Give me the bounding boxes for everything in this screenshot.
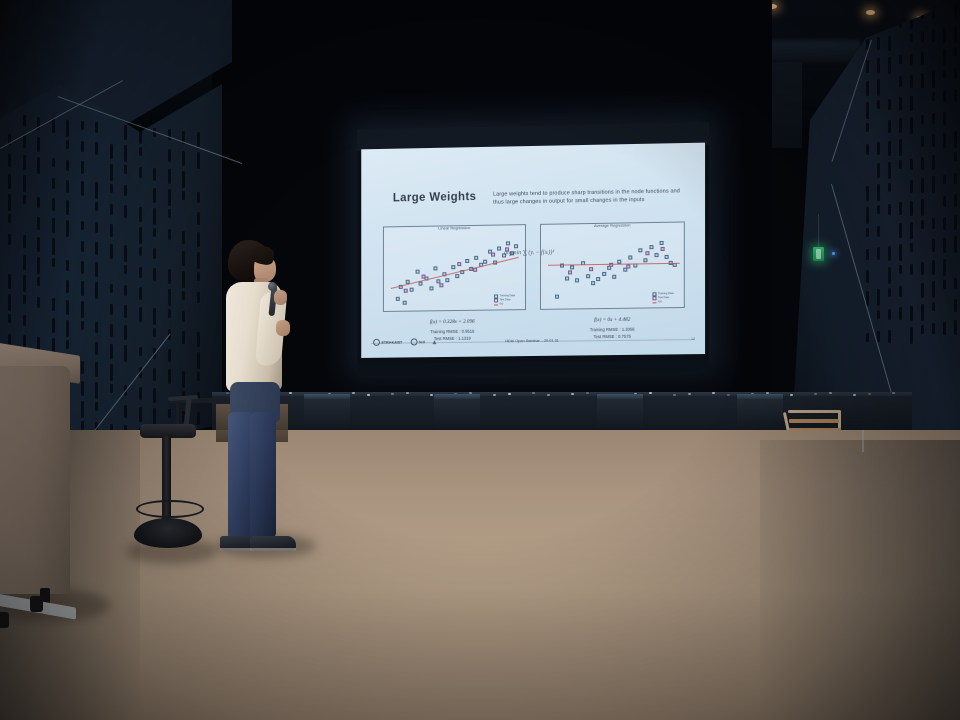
wall-perforation [954, 173, 957, 184]
wall-perforation [197, 152, 200, 169]
wall-perforation [8, 194, 11, 211]
scatter-point-training [665, 255, 669, 259]
wall-perforation [124, 245, 127, 262]
stage-edge-light [430, 394, 433, 396]
stage-edge-light [391, 393, 394, 395]
wall-perforation [66, 260, 69, 271]
wall-perforation [95, 122, 98, 133]
wall-perforation [932, 260, 935, 275]
wall-perforation [8, 274, 11, 289]
wall-perforation [910, 222, 913, 239]
wall-perforation [66, 280, 69, 293]
wall-perforation [197, 292, 200, 303]
wall-perforation [954, 131, 957, 148]
wall-perforation [81, 321, 84, 330]
wall-perforation [899, 307, 902, 320]
slide-title: Large Weights [393, 191, 477, 204]
projection-screen[interactable]: Large Weights Large weights tend to prod… [357, 122, 709, 368]
wall-perforation [52, 238, 55, 255]
wall-perforation [124, 305, 127, 318]
scatter-point-test [661, 247, 665, 251]
wall-perforation [197, 232, 200, 247]
wall-perforation [81, 361, 84, 374]
wall-perforation [182, 191, 185, 200]
stage-edge-light [547, 394, 550, 396]
wall-perforation [139, 347, 142, 356]
step-tread [789, 419, 839, 423]
wall-perforation [139, 167, 142, 178]
stage-edge-light [508, 393, 511, 395]
wall-perforation [921, 304, 924, 321]
wall-perforation [921, 31, 924, 42]
wall-perforation [877, 205, 880, 214]
wall-perforation [153, 228, 156, 237]
presenter-shoe-right [250, 536, 296, 551]
scatter-point-training [429, 286, 433, 290]
wall-perforation [168, 149, 171, 162]
wall-perforation [110, 284, 113, 293]
wall-perforation [66, 180, 69, 193]
wall-perforation [899, 244, 902, 261]
legend-swatch-test [494, 299, 498, 303]
chart-average-regression: Average Regression Training Data Test Da… [540, 221, 685, 309]
stage-edge-light [571, 393, 574, 395]
wall-perforation [124, 125, 127, 140]
wall-perforation [932, 239, 935, 252]
scatter-point-training [497, 246, 501, 250]
wall-perforation [954, 89, 957, 102]
scatter-point-training [639, 248, 643, 252]
stage-edge-light [829, 392, 832, 394]
wall-perforation [943, 70, 946, 79]
wall-perforation [124, 205, 127, 218]
fit-line-left [391, 257, 519, 289]
wall-perforation [866, 102, 869, 119]
wall-perforation [954, 236, 957, 253]
wall-perforation [197, 332, 200, 347]
floor-shading-right [760, 440, 960, 720]
presenter-leg-right [250, 412, 276, 538]
stage-edge-light [868, 393, 871, 395]
stage-edge-light [688, 393, 691, 395]
stage-edge-light [727, 394, 730, 396]
wall-perforation [943, 112, 946, 125]
wall-perforation [877, 37, 880, 50]
step-rail-top [788, 410, 840, 413]
wall-perforation [81, 261, 84, 274]
wall-perforation [139, 387, 142, 400]
wall-perforation [8, 234, 11, 245]
wall-perforation [95, 182, 98, 199]
wall-perforation [124, 165, 127, 174]
wall-perforation [877, 100, 880, 109]
wall-perforation [943, 175, 946, 184]
wall-perforation [943, 322, 946, 335]
wall-perforation [910, 327, 913, 344]
wall-perforation [921, 52, 924, 65]
wall-perforation [139, 407, 142, 422]
wall-perforation [52, 158, 55, 167]
wall-perforation [888, 330, 891, 343]
wall-perforation [899, 139, 902, 156]
wall-perforation [81, 141, 84, 152]
wall-perforation [197, 412, 200, 425]
wall-perforation [37, 277, 40, 286]
wall-perforation [168, 129, 171, 140]
presentation-slide: Large Weights Large weights tend to prod… [361, 143, 705, 358]
wall-perforation [153, 328, 156, 337]
wall-perforation [168, 309, 171, 318]
stage-edge-light [814, 393, 817, 395]
wall-perforation [910, 33, 913, 42]
wall-perforation [153, 208, 156, 225]
wall-perforation [37, 237, 40, 252]
presenter [206, 240, 316, 560]
wall-perforation [168, 409, 171, 418]
wall-perforation [921, 157, 924, 170]
scatter-point-training [455, 274, 459, 278]
wall-perforation [37, 217, 40, 230]
wall-perforation [66, 320, 69, 337]
scatter-point-training [628, 255, 632, 259]
wall-perforation [899, 223, 902, 238]
wall-perforation [110, 384, 113, 393]
wall-perforation [110, 164, 113, 181]
microphone-head-icon [268, 282, 277, 291]
wall-perforation [81, 241, 84, 252]
chart-linear-regression: Linear Regression Training Data Test Dat… [383, 224, 526, 312]
wall-perforation [153, 388, 156, 403]
wall-perforation [8, 334, 11, 345]
wall-perforation [37, 137, 40, 152]
wall-perforation [95, 382, 98, 399]
wall-perforation [81, 161, 84, 174]
wall-perforation [153, 408, 156, 425]
wall-perforation [23, 235, 26, 248]
wall-perforation [932, 155, 935, 170]
legend-entry-fx-r: f(x) [652, 300, 680, 304]
wall-perforation [943, 133, 946, 148]
wall-perforation [23, 275, 26, 292]
wall-perforation [954, 152, 957, 161]
wall-perforation [888, 204, 891, 215]
wall-perforation [139, 147, 142, 156]
wall-perforation [23, 135, 26, 148]
stage-edge-light [586, 392, 589, 394]
wall-perforation [182, 331, 185, 344]
wall-perforation [899, 97, 902, 110]
overlay-equation: argmin ∑ (yᵢ − f(xᵢ))² [504, 250, 554, 257]
scatter-point-training [649, 245, 653, 249]
wall-perforation [23, 155, 26, 170]
scatter-point-training [660, 241, 664, 245]
wall-perforation [888, 288, 891, 297]
wall-perforation [932, 134, 935, 147]
wall-perforation [899, 76, 902, 87]
scatter-point-test [422, 274, 426, 278]
wall-perforation [877, 331, 880, 342]
legend-entry-fx: f(x) [494, 302, 522, 306]
wall-perforation [66, 140, 69, 149]
wall-perforation [197, 132, 200, 147]
wall-perforation [153, 168, 156, 181]
wall-perforation [110, 344, 113, 359]
wall-perforation [168, 349, 171, 362]
wall-perforation [23, 295, 26, 304]
wall-perforation [888, 246, 891, 261]
legend-label-fx: f(x) [500, 302, 504, 306]
wall-perforation [910, 264, 913, 275]
wall-perforation [954, 194, 957, 207]
lecture-hall-photo: Large Weights Large weights tend to prod… [0, 0, 960, 720]
scatter-point-training [602, 272, 606, 276]
wall-perforation [139, 287, 142, 300]
wall-perforation [168, 209, 171, 218]
wall-perforation [81, 221, 84, 230]
legend-swatch-test-r [652, 296, 656, 300]
wall-perforation [66, 160, 69, 171]
wall-perforation [866, 207, 869, 224]
bar-stool-base [134, 518, 202, 548]
wall-perforation [139, 247, 142, 256]
wall-perforation [95, 342, 98, 355]
scatter-point-training [607, 266, 611, 270]
wall-perforation [52, 298, 55, 311]
wall-perforation [899, 118, 902, 133]
podium-caster [0, 612, 9, 628]
podium-caster [30, 596, 43, 612]
wall-perforation [23, 315, 26, 326]
scatter-point-test [627, 264, 631, 268]
wall-perforation [182, 371, 185, 388]
wall-perforation [197, 252, 200, 269]
wall-perforation [899, 160, 902, 169]
wall-perforation [932, 218, 935, 229]
wall-perforation [95, 262, 98, 277]
wall-perforation [921, 136, 924, 147]
wall-perforation [66, 300, 69, 315]
wall-perforation [932, 176, 935, 193]
wall-perforation [139, 267, 142, 278]
wall-perforation [877, 79, 880, 96]
scatter-point-training [654, 253, 658, 257]
wall-perforation [182, 271, 185, 288]
stage-edge-light [367, 394, 370, 396]
wall-perforation [954, 278, 957, 289]
presenter-hand-mic [274, 290, 287, 305]
wall-perforation [921, 262, 924, 275]
chart-legend-left: Training Data Test Data f(x) [494, 294, 522, 306]
wall-perforation [66, 120, 69, 137]
wall-perforation [932, 29, 935, 42]
wall-perforation [182, 151, 185, 166]
scatter-point-training [433, 267, 437, 271]
scatter-point-training [597, 277, 601, 281]
wall-perforation [888, 183, 891, 192]
floor-cable [862, 430, 864, 452]
wall-perforation [866, 60, 869, 73]
wall-perforation [8, 154, 11, 167]
wall-perforation [877, 310, 880, 319]
wall-perforation [124, 265, 127, 274]
wall-perforation [52, 198, 55, 211]
scatter-point-training [612, 275, 616, 279]
shoe-sole [250, 548, 296, 551]
wall-perforation [153, 188, 156, 203]
wall-perforation [866, 123, 869, 132]
wall-perforation [910, 117, 913, 134]
wall-perforation [110, 224, 113, 237]
stage-edge-light [649, 392, 652, 394]
legend-swatch-fx-r [652, 302, 656, 303]
chart-title-right: Average Regression [541, 221, 684, 228]
stage-edge-light [532, 392, 535, 394]
wall-perforation [168, 369, 171, 384]
wall-perforation [37, 197, 40, 208]
wall-perforation [182, 171, 185, 188]
scatter-point-training [591, 281, 595, 285]
wall-perforation [943, 28, 946, 43]
wall-perforation [866, 186, 869, 201]
scatter-point-training [483, 260, 487, 264]
wall-perforation [197, 272, 200, 281]
wall-perforation [168, 229, 171, 240]
wall-perforation [877, 163, 880, 178]
wall-perforation [888, 267, 891, 284]
wall-perforation [954, 47, 957, 56]
wall-perforation [110, 364, 113, 381]
wall-perforation [943, 238, 946, 253]
wall-perforation [95, 242, 98, 255]
wall-perforation [943, 217, 946, 230]
scatter-point-training [555, 294, 559, 298]
wall-perforation [197, 192, 200, 203]
wall-perforation [139, 207, 142, 222]
wall-perforation [921, 115, 924, 124]
wall-perforation [954, 215, 957, 230]
wall-perforation [888, 141, 891, 156]
wall-perforation [910, 180, 913, 193]
wall-perforation [23, 115, 26, 126]
chart-legend-right: Training Data Test Data f(x) [652, 292, 680, 304]
wall-perforation [8, 174, 11, 189]
wall-perforation [866, 144, 869, 155]
wall-perforation [139, 127, 142, 144]
stage-edge-light [352, 392, 355, 394]
wall-perforation [954, 320, 957, 335]
wall-perforation [66, 340, 69, 349]
wall-perforation [197, 352, 200, 369]
wall-perforation [81, 181, 84, 196]
wall-perforation [866, 270, 869, 283]
wall-perforation [182, 291, 185, 300]
wall-perforation [182, 231, 185, 244]
screen-surface: Large Weights Large weights tend to prod… [361, 143, 705, 358]
scatter-point-training [576, 278, 580, 282]
wall-perforation [23, 255, 26, 270]
slide-footer: ETRI+KAIST hcil HDAI Open Seminar – 20.0… [361, 328, 705, 346]
scatter-point-training [623, 268, 627, 272]
formula-left: f(x) = 0.328x + 2.096 [383, 318, 522, 326]
wall-perforation [877, 289, 880, 306]
wall-perforation [182, 251, 185, 266]
scatter-point-training [565, 277, 569, 281]
bar-stool-footrest-ring [136, 500, 204, 518]
wall-perforation [168, 289, 171, 306]
wall-perforation [8, 294, 11, 311]
wall-perforation [899, 265, 902, 274]
scatter-point-training [415, 270, 419, 274]
wall-perforation [110, 324, 113, 337]
wall-perforation [899, 55, 902, 64]
wall-perforation [943, 196, 946, 207]
wall-perforation [910, 159, 913, 170]
wall-perforation [888, 36, 891, 51]
scatter-point-test [568, 270, 572, 274]
stage-edge-light [493, 394, 496, 396]
wall-perforation [168, 189, 171, 206]
wall-perforation [866, 249, 869, 260]
presenter-hand-free [276, 320, 290, 336]
wall-perforation [153, 308, 156, 325]
wall-perforation [139, 307, 142, 322]
legend-swatch-fx [494, 304, 498, 305]
wall-perforation [66, 200, 69, 215]
wall-perforation [954, 68, 957, 79]
wall-perforation [110, 204, 113, 215]
wall-perforation [943, 259, 946, 276]
fit-line-right [548, 263, 680, 266]
scatter-point-training [474, 255, 478, 259]
wall-perforation [877, 247, 880, 260]
scatter-point-training [410, 288, 414, 292]
wall-perforation [932, 113, 935, 124]
scatter-point-training [506, 241, 510, 245]
stage-edge-light [712, 392, 715, 394]
wall-perforation [921, 220, 924, 229]
wall-perforation [921, 283, 924, 298]
wall-perforation [910, 243, 913, 252]
wall-perforation [888, 99, 891, 110]
wall-perforation [81, 121, 84, 130]
wall-perforation [124, 345, 127, 362]
wall-perforation [8, 314, 11, 323]
wall-perforation [888, 309, 891, 320]
wall-perforation [81, 281, 84, 296]
wall-perforation [110, 144, 113, 159]
wall-perforation [139, 227, 142, 244]
wall-perforation [877, 58, 880, 73]
wall-perforation [37, 257, 40, 274]
wall-perforation [37, 157, 40, 174]
wall-perforation [124, 145, 127, 162]
wall-perforation [888, 120, 891, 133]
ceiling-spotlight [866, 10, 875, 15]
slide-subtitle: Large weights tend to produce sharp tran… [493, 187, 690, 207]
wall-perforation [888, 57, 891, 74]
wall-perforation [95, 282, 98, 299]
wall-perforation [877, 142, 880, 155]
wall-perforation [95, 322, 98, 333]
wall-perforation [954, 5, 957, 20]
wall-perforation [23, 175, 26, 192]
wall-perforation [182, 311, 185, 322]
wall-perforation [877, 184, 880, 201]
wall-perforation [899, 286, 902, 297]
wall-perforation [899, 202, 902, 215]
stage-edge-light [790, 394, 793, 396]
scatter-point-training [514, 244, 518, 248]
